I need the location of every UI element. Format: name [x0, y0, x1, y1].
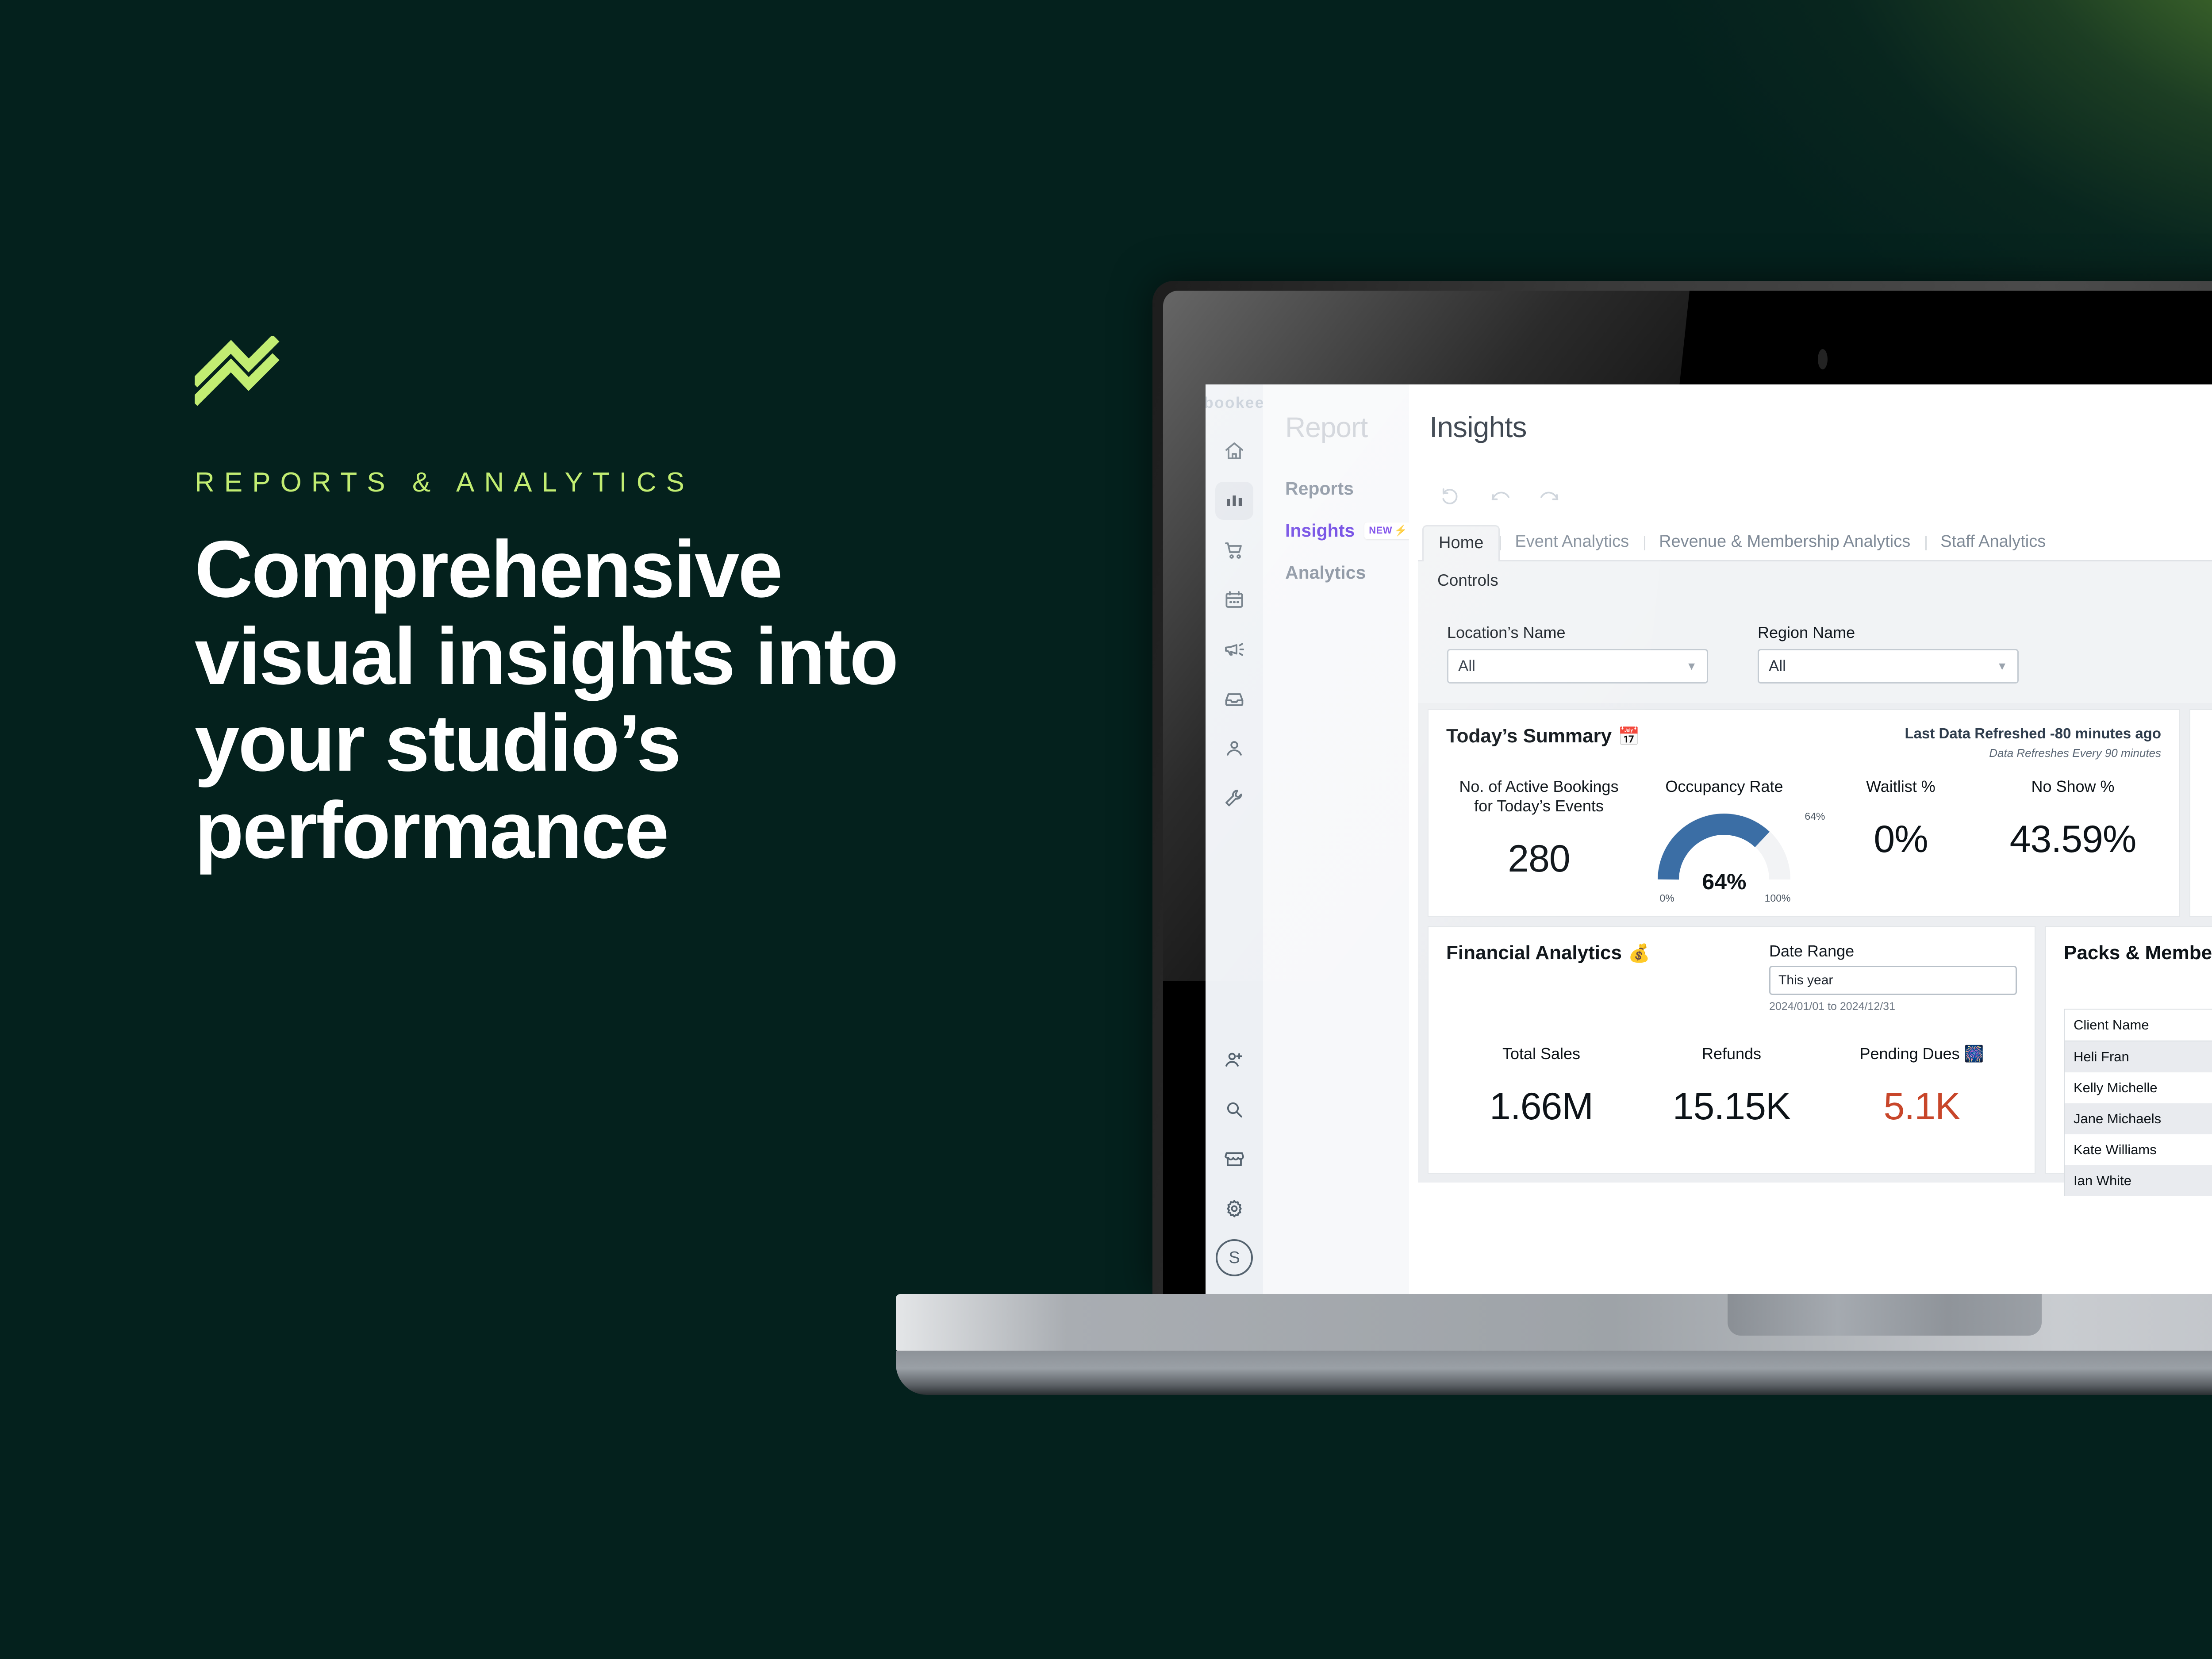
rail-item-inbox[interactable]	[1215, 680, 1253, 718]
date-range-label: Date Range	[1769, 942, 2017, 960]
metric-value: 5.1K	[1827, 1085, 2017, 1129]
reset-icon[interactable]	[1439, 485, 1462, 508]
report-tabs: Home Event Analytics Revenue & Membershi…	[1418, 521, 2212, 561]
cell-client-name: Kate Williams	[2064, 1134, 2212, 1165]
chevron-down-icon: ▼	[1997, 660, 2008, 673]
cards-row-2: Financial Analytics 💰 Date Range This ye…	[1418, 926, 2212, 1183]
rail-item-store[interactable]	[1215, 1140, 1253, 1178]
metric-value: 1.66M	[1446, 1085, 1636, 1129]
today-metrics: No. of Active Bookings for Today’s Event…	[1446, 777, 2161, 897]
bookee-app: bookee	[1206, 384, 2212, 1294]
firecracker-emoji-icon: 🎆	[1964, 1045, 1984, 1063]
rail-item-search[interactable]	[1215, 1091, 1253, 1129]
metric-value: 0%	[1817, 818, 1985, 861]
metric-value: 280	[1446, 837, 1632, 881]
main-content: Insights	[1409, 384, 2212, 1294]
packs-memberships-card: Packs & Memberships Expiring Soon 🎆 Memb…	[2045, 926, 2212, 1174]
last-refreshed-label: Last Data Refreshed -80 minutes ago	[1905, 725, 2162, 742]
filter-label: Location’s Name	[1447, 623, 1708, 642]
metric-label-text: Pending Dues	[1859, 1045, 1959, 1063]
gauge-value-label: 64%	[1658, 869, 1790, 895]
card-title: Today’s Summary 📅	[1446, 725, 1640, 747]
refresh-info: Last Data Refreshed -80 minutes ago Data…	[1905, 725, 2162, 760]
add-person-icon	[1224, 1049, 1245, 1071]
gauge-max-label: 100%	[1765, 892, 1791, 904]
metric-total-sales: Total Sales 1.66M	[1446, 1044, 1636, 1129]
nav-section-title: Report	[1285, 411, 1409, 444]
metric-label-line2: for Today’s Events	[1446, 796, 1632, 816]
metric-label-line1: No. of Active Bookings	[1446, 777, 1632, 796]
laptop-lid: bookee	[1152, 281, 2212, 1294]
card-header: Today’s Summary 📅 Last Data Refreshed -8…	[1446, 725, 2161, 760]
cell-client-name: Ian White	[2064, 1165, 2212, 1196]
nav-item-label: Analytics	[1285, 562, 1366, 583]
calendar-emoji-icon: 📅	[1618, 726, 1640, 747]
lightning-bolt-icon: ⚡	[1394, 524, 1407, 537]
metric-label: Total Sales	[1446, 1044, 1636, 1064]
metric-waitlist: Waitlist % 0%	[1817, 777, 1985, 897]
table-row[interactable]: Heli Fran Studio Chicago 6 class package	[2064, 1041, 2212, 1072]
laptop-base-notch	[1728, 1294, 2042, 1336]
rail-item-clients[interactable]	[1215, 730, 1253, 768]
gauge-endpoint-label: 64%	[1805, 810, 1825, 822]
rail-item-marketing[interactable]	[1215, 630, 1253, 668]
date-range-filter: Date Range This year 2024/01/01 to 2024/…	[1769, 942, 2017, 1013]
location-select-value: All	[1458, 657, 1475, 675]
metric-pending-dues: Pending Dues 🎆 5.1K	[1827, 1044, 2017, 1129]
metric-label-line1: Waitlist %	[1817, 777, 1985, 796]
financial-analytics-card: Financial Analytics 💰 Date Range This ye…	[1428, 926, 2035, 1174]
card-header: Packs & Memberships Expiring Soon 🎆 Memb…	[2064, 942, 2212, 994]
card-title: Packs & Memberships Expiring Soon 🎆	[2064, 942, 2212, 964]
new-badge-label: NEW	[1369, 525, 1392, 536]
column-header-client-name: Client Name	[2064, 1009, 2212, 1041]
laptop-bezel: bookee	[1163, 291, 2212, 1294]
report-nav-panel: Report Reports Insights NEW ⚡ A	[1263, 384, 1409, 1294]
report-toolbar	[1418, 473, 2212, 521]
laptop-base-bottom	[896, 1351, 2212, 1395]
icon-rail-sidebar: bookee	[1206, 384, 1263, 1294]
location-select[interactable]: All ▼	[1447, 649, 1708, 684]
cell-client-name: Kelly Michelle	[2064, 1072, 2212, 1103]
zigzag-trend-logo-icon	[195, 336, 305, 420]
metric-label-line1: No Show %	[1985, 777, 2161, 796]
filter-region: Region Name All ▼	[1758, 623, 2019, 684]
page-headline: Comprehensive visual insights into your …	[195, 526, 1000, 873]
occupancy-gauge: 64% 0% 100% 64%	[1658, 809, 1790, 897]
calendar-icon	[1224, 589, 1245, 611]
home-icon	[1224, 441, 1245, 462]
client-metrics: Active Clients Excluding Trialists 2,505…	[2208, 770, 2212, 863]
avatar-initial: S	[1229, 1248, 1240, 1267]
rail-item-tools[interactable]	[1215, 779, 1253, 817]
bar-chart-icon	[1224, 490, 1245, 511]
card-title: Financial Analytics 💰	[1446, 942, 1650, 964]
date-range-select[interactable]: This year	[1769, 966, 2017, 995]
region-select[interactable]: All ▼	[1758, 649, 2019, 684]
table-row[interactable]: Kelly Michelle Studio Chicago Single 50’…	[2064, 1072, 2212, 1103]
metric-value: 2,505	[2208, 819, 2212, 863]
card-title-text: Packs & Memberships Expiring Soon	[2064, 942, 2212, 964]
todays-summary-card: Today’s Summary 📅 Last Data Refreshed -8…	[1428, 709, 2180, 917]
tab-event-analytics[interactable]: Event Analytics	[1500, 532, 1644, 560]
cell-client-name: Heli Fran	[2064, 1041, 2212, 1072]
metric-label-line1: Occupancy Rate	[1632, 777, 1817, 796]
person-icon	[1224, 738, 1245, 759]
marketing-column: REPORTS & ANALYTICS Comprehensive visual…	[195, 336, 1057, 873]
card-title-text: Financial Analytics	[1446, 942, 1622, 964]
tab-staff-analytics[interactable]: Staff Analytics	[1925, 532, 2061, 560]
rail-item-calendar[interactable]	[1215, 581, 1253, 619]
card-header: Client Summary 🏋️	[2208, 725, 2212, 747]
nav-item-analytics[interactable]: Analytics	[1285, 562, 1409, 583]
laptop-mockup: bookee	[1152, 281, 2212, 1387]
date-range-sublabel: 2024/01/01 to 2024/12/31	[1769, 1000, 2017, 1013]
embedded-report: Home Event Analytics Revenue & Membershi…	[1418, 473, 2212, 1294]
rail-item-reports[interactable]	[1215, 482, 1253, 520]
megaphone-icon	[1224, 639, 1245, 660]
bookee-wordmark: bookee	[1206, 394, 1265, 412]
storefront-icon	[1224, 1148, 1245, 1170]
filter-label: Region Name	[1758, 623, 2019, 642]
metric-label: Refunds	[1636, 1044, 1827, 1064]
rail-item-settings[interactable]	[1215, 1190, 1253, 1228]
date-range-value: This year	[1778, 973, 1833, 988]
metric-active-clients: Active Clients Excluding Trialists 2,505	[2208, 770, 2212, 863]
nav-item-label: Insights	[1285, 520, 1355, 541]
expiring-memberships-table: Client Name Location Name Plan Name	[2064, 1009, 2212, 1196]
controls-heading: Controls	[1437, 571, 2212, 590]
wrench-icon	[1224, 787, 1245, 809]
metric-label: Pending Dues 🎆	[1827, 1044, 2017, 1064]
metric-value: 43.59%	[1985, 818, 2161, 861]
rail-item-sales[interactable]	[1215, 531, 1253, 569]
cell-client-name: Jane Michaels	[2064, 1103, 2212, 1134]
inbox-icon	[1224, 688, 1245, 710]
tab-revenue-membership-analytics[interactable]: Revenue & Membership Analytics	[1644, 532, 1925, 560]
tab-home[interactable]: Home	[1422, 525, 1500, 561]
chevron-down-icon: ▼	[1686, 660, 1697, 673]
metric-no-show: No Show % 43.59%	[1985, 777, 2161, 897]
rail-item-add-client[interactable]	[1215, 1041, 1253, 1079]
filter-row: Location’s Name All ▼ Region Name	[1437, 623, 2212, 684]
client-summary-card: Client Summary 🏋️ Active Clients Exclud	[2189, 709, 2212, 917]
metric-occupancy-rate: Occupancy Rate 64%	[1632, 777, 1817, 897]
card-title-text: Today’s Summary	[1446, 725, 1612, 747]
nav-item-reports[interactable]: Reports	[1285, 478, 1409, 499]
metric-label: Active Clients	[2208, 770, 2212, 790]
webcam-icon	[1818, 349, 1828, 369]
metric-value: 15.15K	[1636, 1085, 1827, 1129]
metric-active-bookings: No. of Active Bookings for Today’s Event…	[1446, 777, 1632, 897]
undo-icon[interactable]	[1489, 485, 1512, 508]
table-row[interactable]: Ian White Studio Chicago 8 class package	[2064, 1165, 2212, 1196]
metric-sublabel: Excluding Trialists	[2208, 790, 2212, 806]
shopping-cart-icon	[1224, 540, 1245, 561]
nav-item-insights[interactable]: Insights NEW ⚡	[1285, 520, 1409, 541]
metric-refunds: Refunds 15.15K	[1636, 1044, 1827, 1129]
refresh-interval-label: Data Refreshes Every 90 minutes	[1905, 746, 2162, 760]
gear-icon	[1224, 1198, 1245, 1219]
money-bag-emoji-icon: 💰	[1628, 943, 1650, 964]
eyebrow-label: REPORTS & ANALYTICS	[195, 467, 1057, 498]
financial-metrics: Total Sales 1.66M Refunds 15.15K	[1446, 1044, 2017, 1129]
redo-icon[interactable]	[1538, 485, 1561, 508]
cards-row-1: Today’s Summary 📅 Last Data Refreshed -8…	[1418, 709, 2212, 926]
table-row[interactable]: Kate Williams Studio Chicago myclubs mem…	[2064, 1134, 2212, 1165]
filter-location: Location’s Name All ▼	[1447, 623, 1708, 684]
new-badge: NEW ⚡	[1364, 522, 1412, 539]
card-header: Financial Analytics 💰 Date Range This ye…	[1446, 942, 2017, 1013]
avatar[interactable]: S	[1216, 1239, 1253, 1276]
table-row[interactable]: Jane Michaels Studio Chicago myclubs mem…	[2064, 1103, 2212, 1134]
dashboard-cards: Today’s Summary 📅 Last Data Refreshed -8…	[1418, 703, 2212, 1183]
region-select-value: All	[1769, 657, 1786, 675]
controls-section: Controls Location’s Name All ▼	[1418, 561, 2212, 703]
table-header-row: Client Name Location Name Plan Name	[2064, 1009, 2212, 1041]
gauge-min-label: 0%	[1659, 892, 1674, 904]
page-title: Insights	[1409, 384, 2212, 444]
rail-item-home[interactable]	[1215, 432, 1253, 470]
laptop-screen: bookee	[1206, 384, 2212, 1294]
search-icon	[1224, 1099, 1245, 1120]
nav-item-label: Reports	[1285, 478, 1354, 499]
